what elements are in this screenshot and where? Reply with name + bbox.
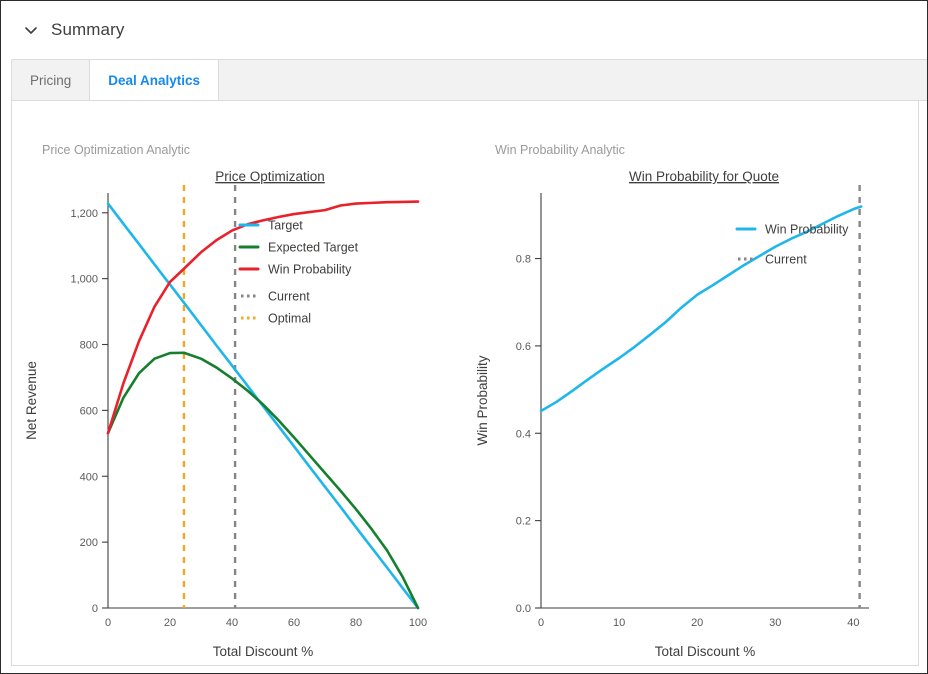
legend-label-target: Target [268, 219, 303, 233]
price-optimization-y-tick-label: 1,000 [70, 274, 98, 286]
win-probability-block: Win Probability Analytic Win Probability… [465, 101, 918, 665]
page-title: Summary [51, 20, 124, 40]
price-optimization-x-tick-label: 0 [105, 617, 111, 629]
legend-label-win-probability: Win Probability [268, 263, 352, 277]
price-optimization-x-tick-label: 60 [288, 617, 300, 629]
win-probability-for-quote-y-tick-label: 0.8 [516, 254, 531, 266]
win-probability-chart[interactable]: Win Probability for Quote0.00.20.40.60.8… [465, 101, 919, 664]
legend-label-expected-target: Expected Target [268, 241, 359, 255]
deal-analytics-panel: Price Optimization Analytic Price Optimi… [11, 101, 919, 666]
win-probability-analytic-label: Win Probability Analytic [495, 143, 625, 157]
price-optimization-y-tick-label: 1,200 [70, 208, 98, 220]
legend-label-win-probability: Win Probability [765, 223, 849, 237]
win-probability-for-quote-x-tick-label: 20 [691, 617, 703, 629]
deal-analytics-page: Summary Pricing Deal Analytics Price Opt… [0, 0, 928, 674]
win-probability-for-quote-y-tick-label: 0.2 [516, 516, 531, 528]
legend-label-optimal: Optimal [268, 312, 311, 326]
tab-pricing[interactable]: Pricing [11, 59, 90, 101]
price-optimization-xlabel: Total Discount % [213, 644, 314, 659]
tab-list: Pricing Deal Analytics [11, 59, 927, 101]
price-optimization-series-expected-target [108, 353, 418, 608]
tab-filler [218, 59, 928, 101]
win-probability-for-quote-ylabel: Win Probability [475, 355, 490, 445]
price-optimization-y-tick-label: 800 [80, 340, 98, 352]
win-probability-for-quote-x-tick-label: 30 [769, 617, 781, 629]
tab-pricing-label: Pricing [30, 73, 71, 88]
price-optimization-x-tick-label: 40 [226, 617, 238, 629]
price-optimization-ylabel: Net Revenue [24, 361, 39, 440]
price-optimization-x-tick-label: 100 [409, 617, 427, 629]
win-probability-for-quote-xlabel: Total Discount % [655, 644, 756, 659]
legend-label-current: Current [765, 253, 807, 267]
charts-container: Price Optimization Analytic Price Optimi… [12, 101, 918, 665]
price-optimization-title: Price Optimization [215, 169, 325, 184]
chevron-down-icon[interactable] [23, 22, 39, 38]
legend-label-current: Current [268, 290, 310, 304]
price-optimization-y-tick-label: 0 [92, 603, 98, 615]
price-optimization-x-tick-label: 20 [164, 617, 176, 629]
price-optimization-analytic-label: Price Optimization Analytic [42, 143, 190, 157]
win-probability-for-quote-title: Win Probability for Quote [629, 169, 779, 184]
win-probability-for-quote-y-tick-label: 0.0 [516, 603, 531, 615]
win-probability-for-quote-series-win-probability [541, 207, 861, 411]
price-optimization-y-tick-label: 400 [80, 471, 98, 483]
price-optimization-chart[interactable]: Price Optimization02004006008001,0001,20… [12, 101, 466, 664]
summary-section-header[interactable]: Summary [23, 15, 124, 45]
win-probability-for-quote-y-tick-label: 0.6 [516, 341, 531, 353]
price-optimization-series-win-probability [108, 202, 418, 434]
win-probability-for-quote-x-tick-label: 40 [847, 617, 859, 629]
price-optimization-y-tick-label: 600 [80, 405, 98, 417]
win-probability-for-quote-x-tick-label: 0 [538, 617, 544, 629]
price-optimization-y-tick-label: 200 [80, 537, 98, 549]
price-optimization-block: Price Optimization Analytic Price Optimi… [12, 101, 465, 665]
win-probability-for-quote-x-tick-label: 10 [613, 617, 625, 629]
tab-deal-analytics[interactable]: Deal Analytics [89, 59, 219, 101]
win-probability-for-quote-y-tick-label: 0.4 [516, 428, 531, 440]
price-optimization-x-tick-label: 80 [350, 617, 362, 629]
tab-deal-analytics-label: Deal Analytics [108, 73, 200, 88]
